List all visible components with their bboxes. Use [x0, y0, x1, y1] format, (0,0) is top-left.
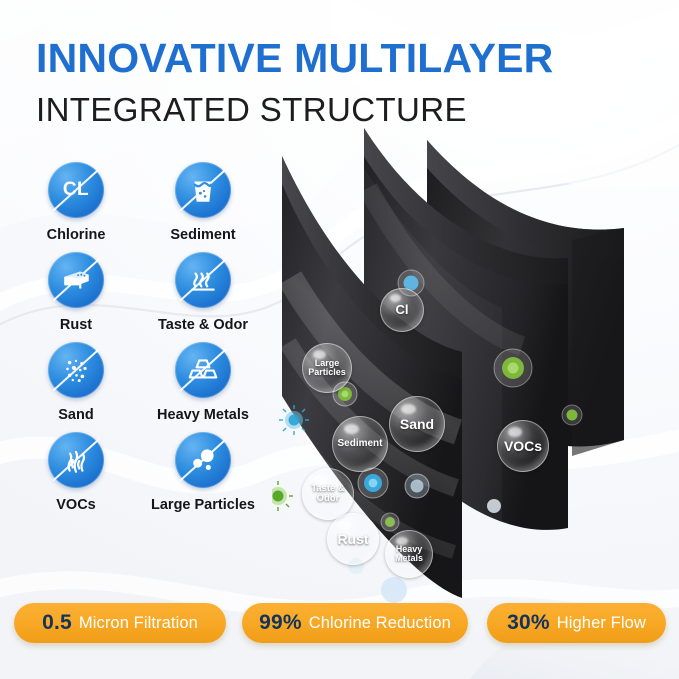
filter-bubble: Cl — [380, 288, 424, 332]
stat-badge-number: 0.5 — [42, 611, 72, 635]
stat-badge: 30%Higher Flow — [487, 603, 666, 643]
stat-badge-text: Chlorine Reduction — [309, 614, 451, 633]
large-particles-icon — [175, 432, 231, 488]
filter-bubble: Sediment — [332, 416, 388, 472]
feature-label: Sand — [58, 407, 93, 423]
feature-label: VOCs — [56, 497, 96, 513]
stat-badge-text: Higher Flow — [557, 614, 646, 633]
feature-rust: Rust — [22, 252, 130, 342]
sediment-glass-icon — [175, 162, 231, 218]
feature-label: Rust — [60, 317, 92, 333]
feature-large-particles: Large Particles — [144, 432, 262, 522]
capsule-clear-1 — [405, 474, 429, 498]
taste-odor-waves-icon — [175, 252, 231, 308]
headline-block: INNOVATIVE MULTILAYER INTEGRATED STRUCTU… — [36, 38, 656, 126]
feature-vocs: VOCs — [22, 432, 130, 522]
feature-chlorine: CL Chlorine — [22, 162, 130, 252]
capsule-green-2 — [494, 349, 532, 387]
microbe-particle-green-1 — [272, 481, 293, 511]
infographic-canvas: INNOVATIVE MULTILAYER INTEGRATED STRUCTU… — [0, 0, 679, 679]
page-subtitle: INTEGRATED STRUCTURE — [36, 93, 656, 126]
feature-heavy-metals: Heavy Metals — [144, 342, 262, 432]
sand-particles-icon — [48, 342, 104, 398]
feature-label: Chlorine — [47, 227, 106, 243]
feature-sand: Sand — [22, 342, 130, 432]
page-title: INNOVATIVE MULTILAYER — [36, 38, 656, 79]
rust-pipe-icon — [48, 252, 104, 308]
filter-bubble: VOCs — [497, 420, 549, 472]
stat-badge-row: 0.5Micron Filtration99%Chlorine Reductio… — [14, 603, 666, 645]
filter-bubble: Heavy Metals — [385, 530, 433, 578]
capsule-white-3 — [487, 499, 501, 513]
feature-sediment: Sediment — [144, 162, 262, 252]
stat-badge-number: 99% — [259, 611, 302, 635]
stat-badge: 0.5Micron Filtration — [14, 603, 226, 643]
feature-label: Taste & Odor — [158, 317, 248, 333]
feature-taste-odor: Taste & Odor — [144, 252, 262, 342]
filter-bubble: Taste & Odor — [302, 468, 354, 520]
chlorine-cl-icon: CL — [48, 162, 104, 218]
filter-bubble: Sand — [389, 396, 445, 452]
capsule-white-2 — [381, 577, 407, 603]
capsule-blue-1 — [358, 468, 388, 498]
filter-bubble: Rust — [327, 513, 379, 565]
feature-label: Heavy Metals — [157, 407, 249, 423]
heavy-metals-ingots-icon — [175, 342, 231, 398]
multilayer-carbon-filter-layers: ClLarge ParticlesSedimentSandTaste & Odo… — [272, 128, 679, 608]
capsule-green-3 — [381, 513, 399, 531]
feature-label: Sediment — [170, 227, 235, 243]
contaminant-feature-grid: CL Chlorine Sediment — [22, 162, 272, 522]
stat-badge-number: 30% — [507, 611, 550, 635]
feature-label: Large Particles — [151, 497, 255, 513]
vocs-vapor-icon — [48, 432, 104, 488]
stat-badge: 99%Chlorine Reduction — [242, 603, 468, 643]
filter-bubble: Large Particles — [302, 343, 352, 393]
stat-badge-text: Micron Filtration — [79, 614, 198, 633]
capsule-green-4 — [562, 405, 582, 425]
